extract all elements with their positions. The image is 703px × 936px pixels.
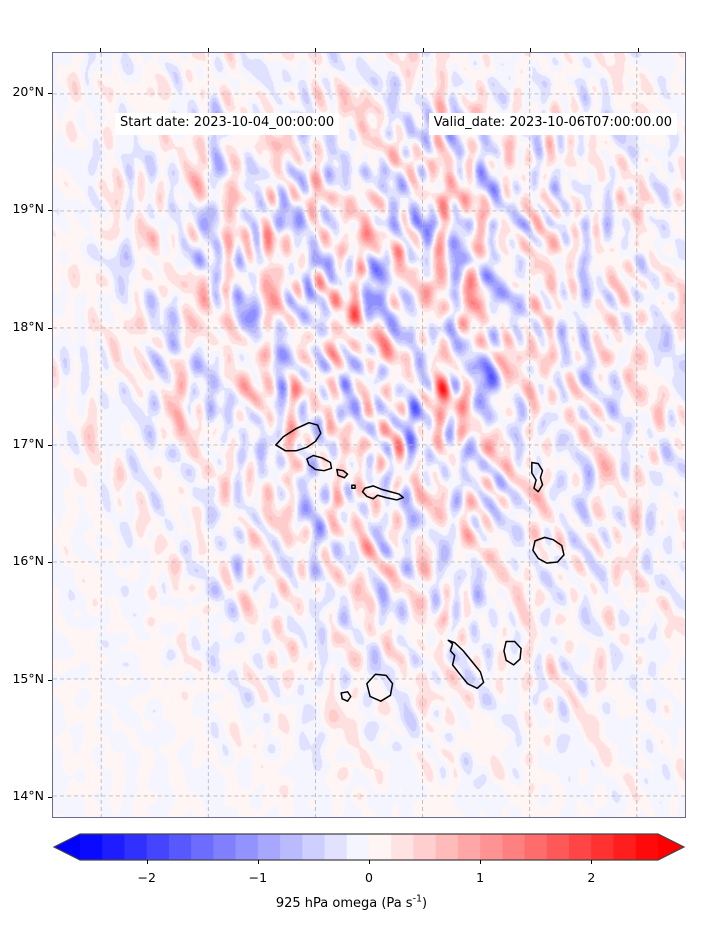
colorbar-band (191, 834, 214, 860)
colorbar-band (614, 834, 637, 860)
colorbar-band (636, 834, 659, 860)
coastline-sal (532, 462, 543, 491)
colorbar-band (280, 834, 303, 860)
colorbar-tick-1: 1 (476, 870, 484, 885)
y-tick-18°N: 18°N (0, 321, 44, 334)
coastline-branco (352, 485, 355, 488)
colorbar-band (502, 834, 525, 860)
coastlines-overlay (53, 53, 685, 817)
y-tick-20°N: 20°N (0, 86, 44, 99)
colorbar-tickmark (147, 860, 148, 864)
coastline-brava (341, 692, 351, 701)
colorbar-band (169, 834, 192, 860)
colorbar-tick-−2: −2 (137, 870, 155, 885)
colorbar-band (369, 834, 392, 860)
colorbar-label-base: 925 hPa omega (Pa s (276, 896, 413, 911)
colorbar-band (525, 834, 548, 860)
coastline-santo-antao (276, 423, 321, 451)
colorbar-tickmark (258, 860, 259, 864)
colorbar-extend-max (658, 834, 684, 860)
colorbar-band (124, 834, 147, 860)
valid-date-annotation: Valid_date: 2023-10-06T07:00:00.00 (429, 113, 677, 135)
map-plot-area[interactable]: Start date: 2023-10-04_00:00:00 Valid_da… (52, 52, 686, 818)
colorbar-band (591, 834, 614, 860)
colorbar-band (258, 834, 281, 860)
colorbar-band (236, 834, 259, 860)
start-date-annotation: Start date: 2023-10-04_00:00:00 (115, 113, 339, 135)
colorbar-extend-min (54, 834, 80, 860)
coastline-fogo (367, 674, 393, 701)
coastline-sao-nicolau (363, 486, 404, 500)
coastline-sao-vicente (307, 455, 332, 470)
y-tick-17°N: 17°N (0, 438, 44, 451)
colorbar-tick-−1: −1 (249, 870, 267, 885)
colorbar-axis-label: 925 hPa omega (Pa s-1) (0, 896, 703, 911)
coastline-santiago (448, 640, 483, 688)
colorbar-band (347, 834, 370, 860)
coastline-boa-vista (533, 537, 564, 563)
colorbar-band (480, 834, 503, 860)
coastline-santa-luzia (337, 470, 348, 478)
colorbar-tickmark (591, 860, 592, 864)
colorbar-label-tail: ) (422, 896, 427, 911)
y-tick-15°N: 15°N (0, 673, 44, 686)
colorbar-band (458, 834, 481, 860)
coastline-maio (504, 641, 521, 664)
colorbar-band (569, 834, 592, 860)
colorbar-band (102, 834, 125, 860)
colorbar-band (436, 834, 459, 860)
y-tick-14°N: 14°N (0, 790, 44, 803)
colorbar-band (325, 834, 348, 860)
colorbar-tickmark (369, 860, 370, 864)
colorbar-band (413, 834, 436, 860)
colorbar-band (391, 834, 414, 860)
colorbar-band (547, 834, 570, 860)
colorbar-tick-2: 2 (587, 870, 595, 885)
colorbar-tickmark (480, 860, 481, 864)
colorbar-tick-0: 0 (365, 870, 373, 885)
colorbar-band (80, 834, 103, 860)
colorbar-band (302, 834, 325, 860)
colorbar-band (147, 834, 170, 860)
y-tick-19°N: 19°N (0, 203, 44, 216)
colorbar-label-exponent: -1 (413, 894, 422, 905)
y-tick-16°N: 16°N (0, 555, 44, 568)
colorbar-band (213, 834, 236, 860)
